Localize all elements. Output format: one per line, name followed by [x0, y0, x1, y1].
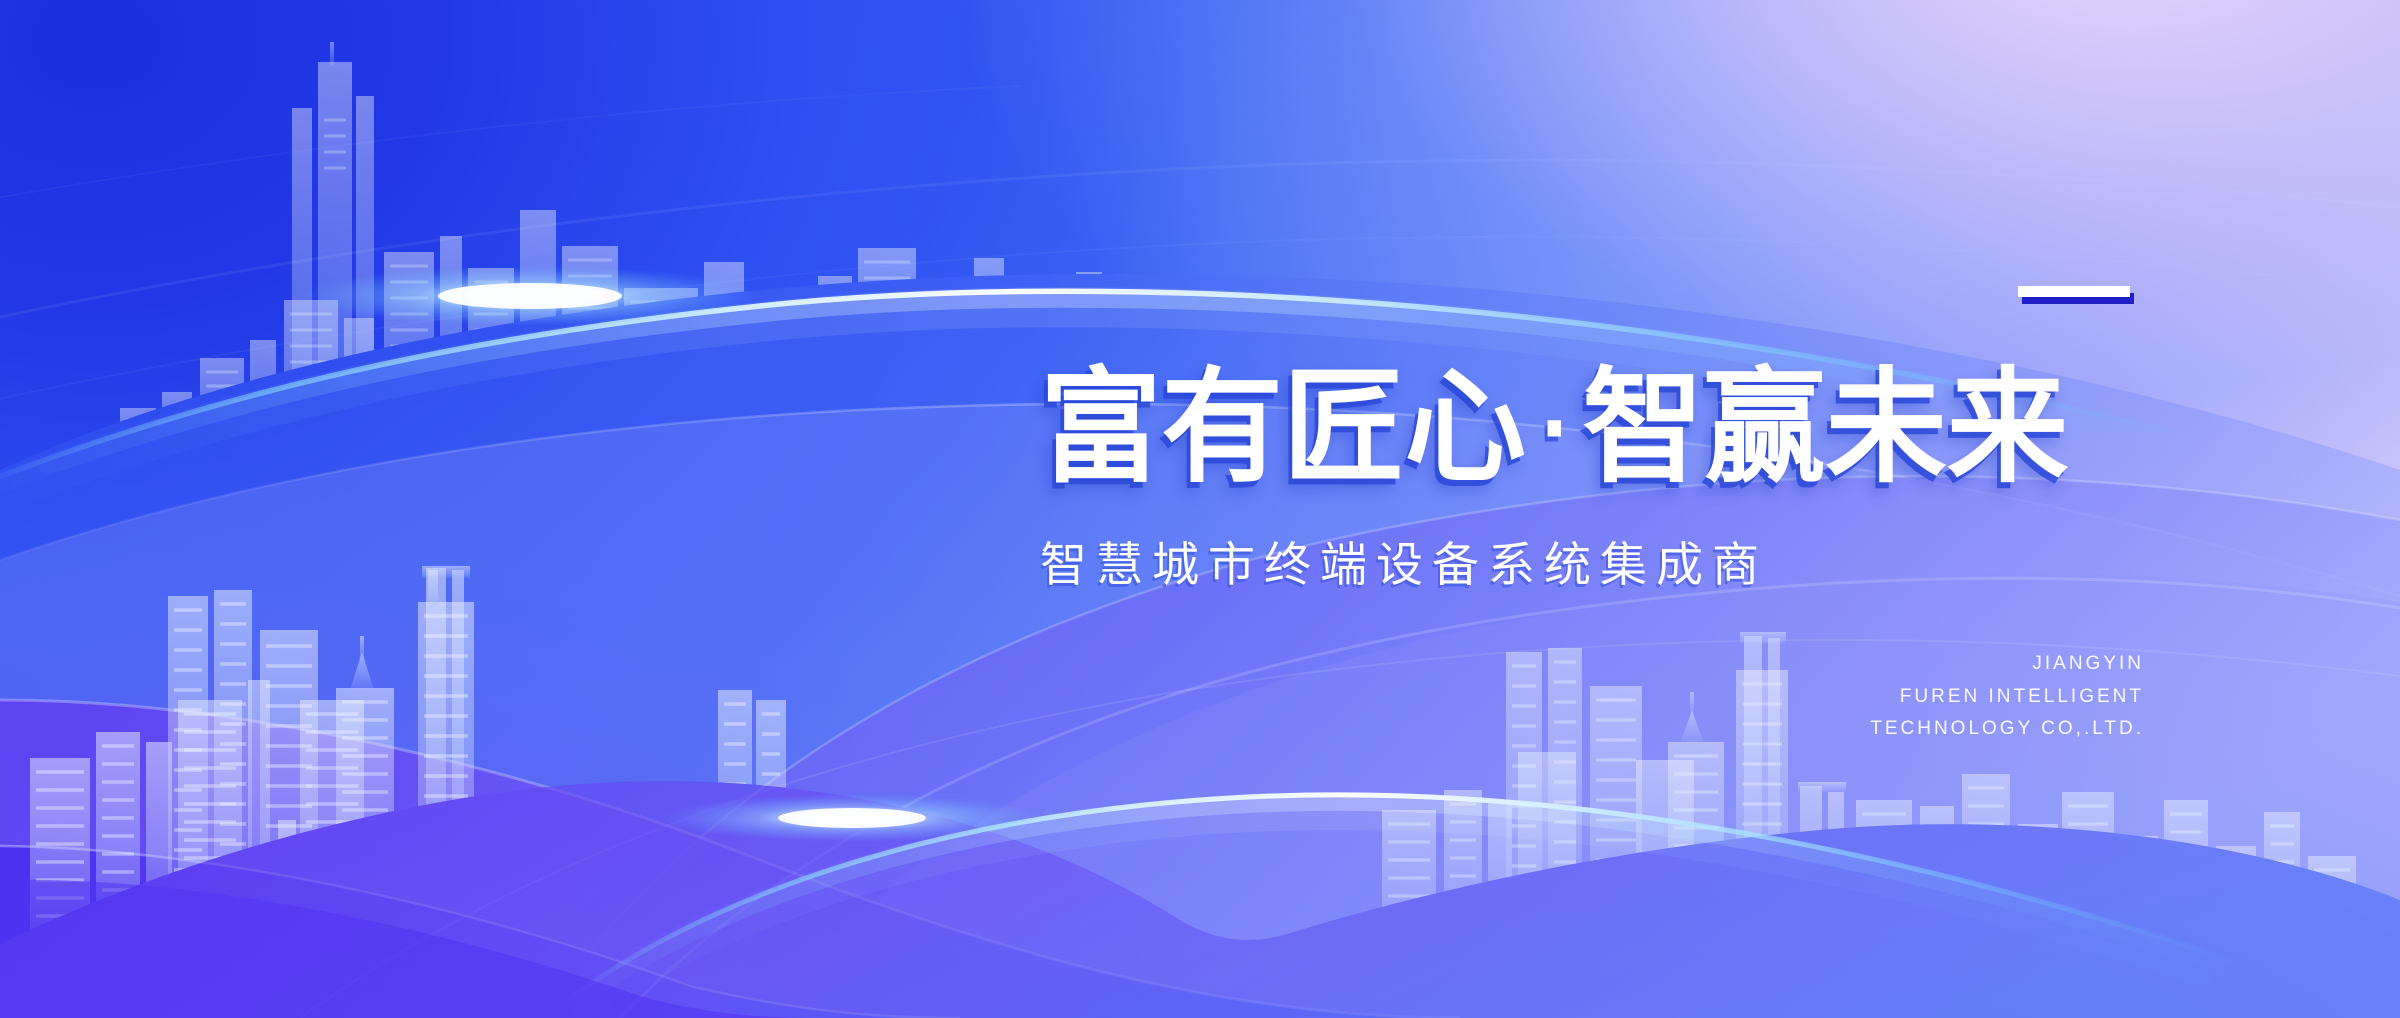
banner-artwork — [0, 0, 2400, 1018]
banner-root: 富有匠心·智赢未来 智慧城市终端设备系统集成商 JIANGYIN FUREN I… — [0, 0, 2400, 1018]
